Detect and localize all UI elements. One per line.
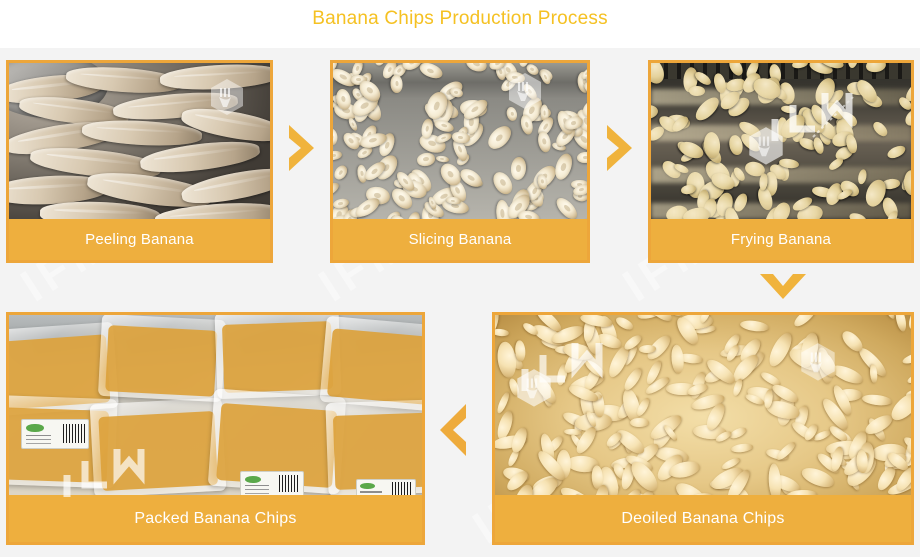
step-caption-deoiled-banana-chips: Deoiled Banana Chips <box>495 495 911 542</box>
product-label <box>240 471 304 497</box>
arrow-2-to-3 <box>604 122 638 174</box>
step-photo-deoiled-banana-chips <box>495 315 911 501</box>
step-caption-peeling-banana: Peeling Banana <box>9 219 270 260</box>
step-caption-slicing-banana: Slicing Banana <box>333 219 587 260</box>
arrow-4-to-5 <box>434 400 470 460</box>
step-card-deoiled-banana-chips[interactable]: Deoiled Banana Chips <box>492 312 914 545</box>
arrow-3-to-4 <box>757 271 809 305</box>
step-card-peeling-banana[interactable]: Peeling Banana <box>6 60 273 263</box>
step-photo-packed-banana-chips <box>9 315 422 501</box>
step-photo-peeling-banana <box>9 63 270 225</box>
product-label <box>21 419 89 449</box>
process-infographic: Banana Chips Production Process <box>0 0 920 557</box>
step-caption-frying-banana: Frying Banana <box>651 219 911 260</box>
step-card-packed-banana-chips[interactable]: Packed Banana Chips <box>6 312 425 545</box>
step-caption-packed-banana-chips: Packed Banana Chips <box>9 495 422 542</box>
page-title: Banana Chips Production Process <box>0 8 920 30</box>
step-photo-frying-banana <box>651 63 911 225</box>
step-card-frying-banana[interactable]: Frying Banana <box>648 60 914 263</box>
step-photo-slicing-banana <box>333 63 587 225</box>
arrow-1-to-2 <box>286 122 320 174</box>
step-card-slicing-banana[interactable]: Slicing Banana <box>330 60 590 263</box>
